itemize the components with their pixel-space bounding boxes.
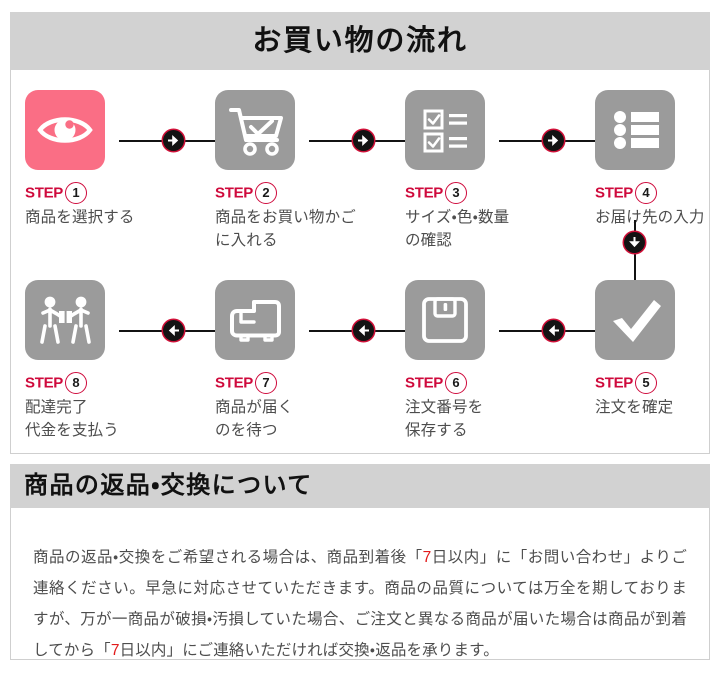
- returns-body-text: 日以内」にご連絡いただければ交換・返品を承ります。: [120, 642, 499, 659]
- returns-policy-text: 商品の返品・交換をご希望される場合は、商品到着後「7日以内」に「お問い合わせ」よ…: [33, 542, 687, 666]
- step-2-label: STEP2: [215, 182, 375, 202]
- caption-line: 注文を確定: [595, 396, 720, 419]
- package-handover-icon: [25, 280, 105, 360]
- step-number: 3: [445, 182, 467, 204]
- flow-step-4[interactable]: STEP4 お届け先の入力: [595, 90, 720, 229]
- step-4-caption: お届け先の入力: [595, 206, 720, 229]
- step-6-caption: 注文番号を 保存する: [405, 396, 565, 442]
- caption-line: 商品をお買い物かご: [215, 206, 375, 229]
- step-3-caption: サイズ・色・数量 の確認: [405, 206, 565, 252]
- down-arrow-icon: [624, 232, 645, 253]
- step-5-tile: [595, 280, 675, 360]
- caption-line: 保存する: [405, 419, 565, 442]
- returns-section-header: 商品の返品・交換について: [10, 464, 710, 508]
- step-number: 8: [65, 372, 87, 394]
- flow-section-header: お買い物の流れ: [10, 12, 710, 70]
- flow-diagram-panel: STEP1 商品を選択する STE: [10, 70, 710, 454]
- step-1-tile: [25, 90, 105, 170]
- delivery-truck-icon: [215, 280, 295, 360]
- checkmark-icon: [595, 280, 675, 360]
- step-word: STEP: [25, 375, 63, 392]
- caption-line: に入れる: [215, 229, 375, 252]
- page-title: お買い物の流れ: [10, 12, 710, 70]
- eye-icon: [25, 90, 105, 170]
- returns-body-text: 商品の返品・交換をご希望される場合は、商品到着後「: [33, 549, 423, 566]
- returns-policy-panel: 商品の返品・交換をご希望される場合は、商品到着後「7日以内」に「お問い合わせ」よ…: [10, 508, 710, 660]
- returns-title: 商品の返品・交換について: [10, 464, 710, 508]
- step-3-label: STEP3: [405, 182, 565, 202]
- caption-line: 注文番号を: [405, 396, 565, 419]
- step-number: 5: [635, 372, 657, 394]
- flow-row-top: STEP1 商品を選択する STE: [11, 70, 709, 260]
- flow-step-7[interactable]: STEP7 商品が届く のを待つ: [215, 280, 375, 442]
- step-3-tile: [405, 90, 485, 170]
- caption-line: 商品が届く: [215, 396, 375, 419]
- flow-step-3[interactable]: STEP3 サイズ・色・数量 の確認: [405, 90, 565, 252]
- step-5-caption: 注文を確定: [595, 396, 720, 419]
- caption-line: 代金を支払う: [25, 419, 185, 442]
- step-1-label: STEP1: [25, 182, 185, 202]
- step-8-tile: [25, 280, 105, 360]
- step-7-label: STEP7: [215, 372, 375, 392]
- step-word: STEP: [405, 375, 443, 392]
- step-7-caption: 商品が届く のを待つ: [215, 396, 375, 442]
- caption-line: のを待つ: [215, 419, 375, 442]
- floppy-save-icon: [405, 280, 485, 360]
- flow-step-2[interactable]: STEP2 商品をお買い物かご に入れる: [215, 90, 375, 252]
- shopping-flow-page: お買い物の流れ: [0, 12, 720, 684]
- caption-line: 商品を選択する: [25, 206, 185, 229]
- step-4-tile: [595, 90, 675, 170]
- step-number: 6: [445, 372, 467, 394]
- step-2-tile: [215, 90, 295, 170]
- step-number: 7: [255, 372, 277, 394]
- flow-step-8[interactable]: STEP8 配達完了 代金を支払う: [25, 280, 185, 442]
- flow-step-1[interactable]: STEP1 商品を選択する: [25, 90, 185, 229]
- step-number: 4: [635, 182, 657, 204]
- bulleted-list-icon: [595, 90, 675, 170]
- step-5-label: STEP5: [595, 372, 720, 392]
- shopping-cart-icon: [215, 90, 295, 170]
- step-6-label: STEP6: [405, 372, 565, 392]
- flow-step-6[interactable]: STEP6 注文番号を 保存する: [405, 280, 565, 442]
- step-2-caption: 商品をお買い物かご に入れる: [215, 206, 375, 252]
- step-word: STEP: [405, 185, 443, 202]
- step-8-label: STEP8: [25, 372, 185, 392]
- caption-line: 配達完了: [25, 396, 185, 419]
- checklist-icon: [405, 90, 485, 170]
- step-word: STEP: [25, 185, 63, 202]
- flow-row-bottom: STEP8 配達完了 代金を支払う STEP7: [11, 260, 709, 450]
- step-word: STEP: [595, 375, 633, 392]
- caption-line: お届け先の入力: [595, 206, 720, 229]
- step-word: STEP: [215, 185, 253, 202]
- step-4-label: STEP4: [595, 182, 720, 202]
- caption-line: の確認: [405, 229, 565, 252]
- returns-highlight-text: 7: [111, 642, 120, 659]
- step-number: 1: [65, 182, 87, 204]
- step-6-tile: [405, 280, 485, 360]
- caption-line: サイズ・色・数量: [405, 206, 565, 229]
- step-8-caption: 配達完了 代金を支払う: [25, 396, 185, 442]
- step-number: 2: [255, 182, 277, 204]
- flow-step-5[interactable]: STEP5 注文を確定: [595, 280, 720, 419]
- step-word: STEP: [215, 375, 253, 392]
- step-1-caption: 商品を選択する: [25, 206, 185, 229]
- step-7-tile: [215, 280, 295, 360]
- step-word: STEP: [595, 185, 633, 202]
